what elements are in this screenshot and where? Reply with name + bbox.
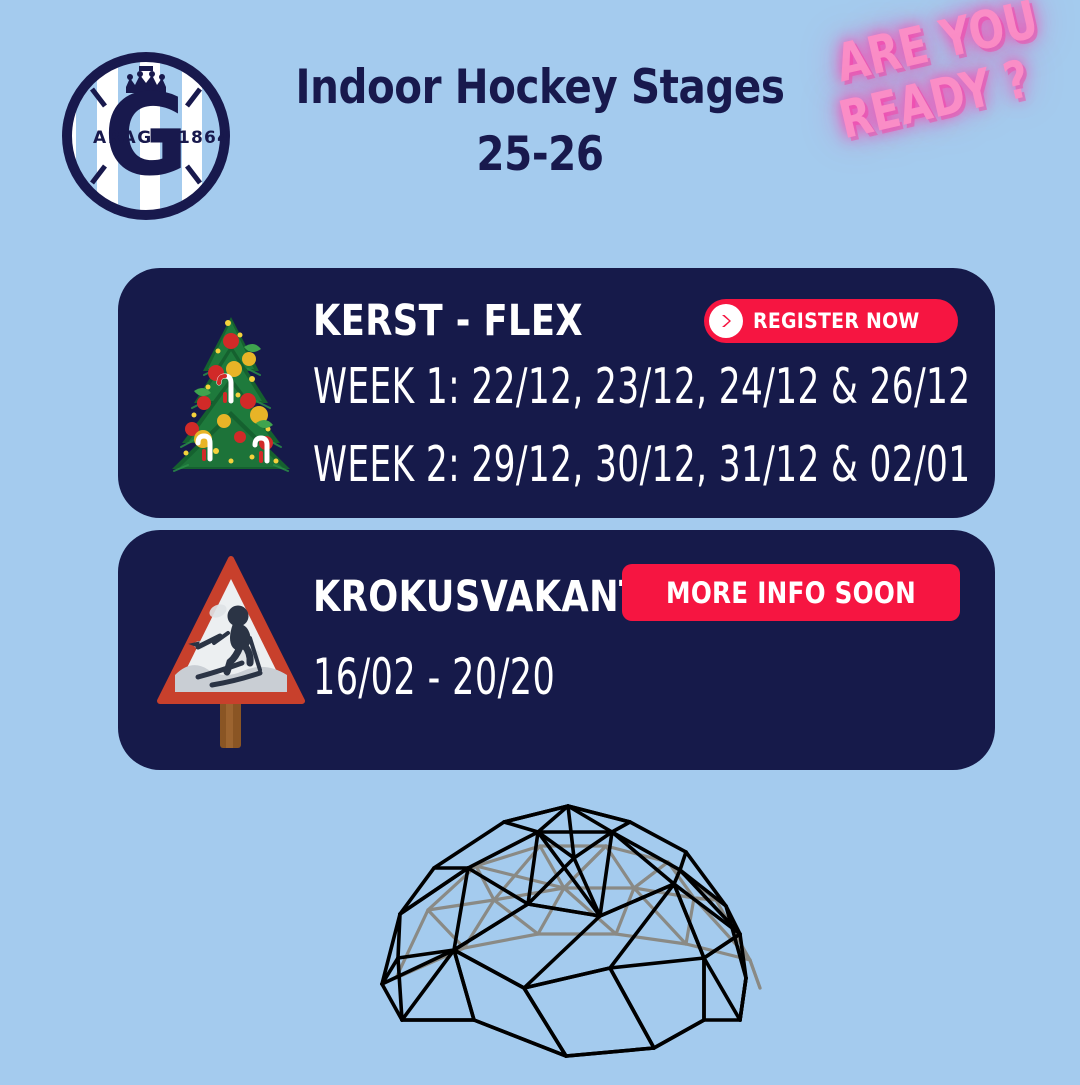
card-krokusvakantie: KROKUSVAKANTIE 16/02 - 20/20 MORE INFO S… (118, 530, 995, 770)
geodesic-dome-icon (368, 788, 812, 1080)
ski-warning-sign-icon (156, 553, 306, 748)
card-kerst-heading: KERST - FLEX (313, 296, 583, 346)
page-title: Indoor Hockey Stages 25-26 (250, 62, 830, 181)
card-krokus-body: KROKUSVAKANTIE 16/02 - 20/20 MORE INFO S… (313, 530, 995, 770)
card-krokus-dates: 16/02 - 20/20 (313, 648, 555, 706)
christmas-tree-icon (156, 311, 306, 476)
page-title-line-1: Indoor Hockey Stages (291, 62, 790, 115)
crest-left-text: ARAG (93, 128, 153, 148)
page-title-line-2: 25-26 (291, 129, 790, 182)
club-logo: G ARAG 1864 (60, 50, 232, 222)
club-crest-icon: G ARAG 1864 (60, 50, 232, 222)
chevron-right-circle-icon (709, 304, 743, 338)
register-now-label: REGISTER NOW (753, 309, 920, 333)
register-now-button[interactable]: REGISTER NOW (704, 299, 958, 343)
are-you-ready-sticker: ARE YOU READY ? (807, 0, 1075, 152)
more-info-soon-label: MORE INFO SOON (666, 576, 916, 610)
ski-warning-sign-art (148, 530, 313, 770)
card-kerst-week-1: WEEK 1: 22/12, 23/12, 24/12 & 26/12 (313, 358, 971, 415)
card-kerst-week-2: WEEK 2: 29/12, 30/12, 31/12 & 02/01 (313, 436, 971, 493)
card-kerst-body: KERST - FLEX WEEK 1: 22/12, 23/12, 24/12… (313, 268, 995, 518)
more-info-soon-button[interactable]: MORE INFO SOON (622, 564, 960, 621)
geodesic-dome-graphic (368, 788, 812, 1080)
card-kerst-flex: KERST - FLEX WEEK 1: 22/12, 23/12, 24/12… (118, 268, 995, 518)
crest-right-text: 1864 (178, 128, 230, 148)
christmas-tree-art (148, 268, 313, 518)
